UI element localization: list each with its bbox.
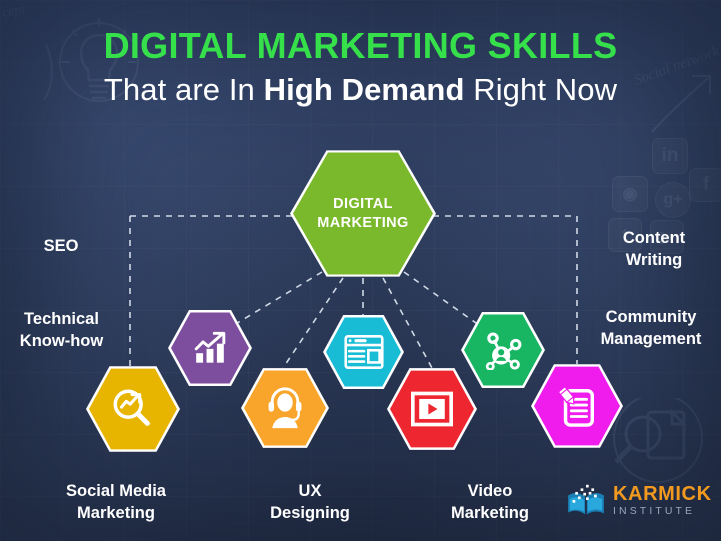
label-content-line2: Writing — [626, 251, 683, 269]
document-pencil-icon — [556, 384, 598, 428]
hexagon-ux-designing[interactable] — [241, 366, 329, 450]
subtitle-strong: High Demand — [264, 72, 465, 107]
label-social-line2: Marketing — [77, 504, 155, 522]
logo-name: KARMICK — [613, 484, 712, 504]
label-community-management: Community Management — [583, 307, 719, 351]
network-people-icon — [482, 330, 524, 370]
label-ux-line2: Designing — [270, 504, 350, 522]
headset-support-icon — [264, 387, 306, 429]
label-social-line1: Social Media — [66, 482, 166, 500]
label-technical-know-how: Technical Know-how — [4, 309, 119, 353]
page-title: DIGITAL MARKETING SKILLS — [0, 27, 721, 65]
center-label-line1: DIGITAL — [333, 196, 393, 212]
center-label: DIGITAL MARKETING — [317, 195, 408, 231]
hexagon-digital-marketing[interactable]: DIGITAL MARKETING — [290, 147, 436, 280]
label-ux-line1: UX — [299, 482, 322, 500]
label-ux-designing: UX Designing — [238, 481, 382, 525]
label-community-line2: Management — [601, 330, 702, 348]
karmick-institute-logo[interactable]: KARMICK INSTITUTE — [566, 483, 712, 517]
bar-chart-arrow-icon — [191, 329, 229, 367]
magnifier-growth-arrow-icon — [110, 386, 156, 432]
label-community-line1: Community — [606, 308, 697, 326]
page-subtitle: That are In High Demand Right Now — [0, 71, 721, 108]
hexagon-technical-know-how[interactable] — [168, 308, 252, 388]
subtitle-post: Right Now — [465, 72, 618, 107]
logo-subtitle: INSTITUTE — [613, 506, 712, 517]
subtitle-pre: That are In — [104, 72, 264, 107]
open-book-pixels-icon — [566, 483, 606, 517]
hexagon-social-media-marketing[interactable] — [86, 364, 180, 454]
title-block: DIGITAL MARKETING SKILLS That are In Hig… — [0, 27, 721, 108]
label-video-line1: Video — [468, 482, 513, 500]
infographic-slide: Social network cept in f ◉ g+ t ▶ DIGITA… — [0, 0, 721, 541]
label-social-media-marketing: Social Media Marketing — [44, 481, 188, 525]
label-technical-line2: Know-how — [20, 332, 103, 350]
hexagon-content-writing[interactable] — [531, 362, 623, 450]
label-video-marketing: Video Marketing — [418, 481, 562, 525]
video-play-icon — [411, 391, 453, 427]
center-label-line2: MARKETING — [317, 215, 408, 231]
browser-layout-icon — [344, 334, 384, 370]
label-content-line1: Content — [623, 229, 685, 247]
label-seo: SEO — [18, 236, 104, 258]
label-video-line2: Marketing — [451, 504, 529, 522]
label-content-writing: Content Writing — [602, 228, 706, 272]
logo-text: KARMICK INSTITUTE — [613, 484, 712, 517]
label-technical-line1: Technical — [24, 310, 99, 328]
